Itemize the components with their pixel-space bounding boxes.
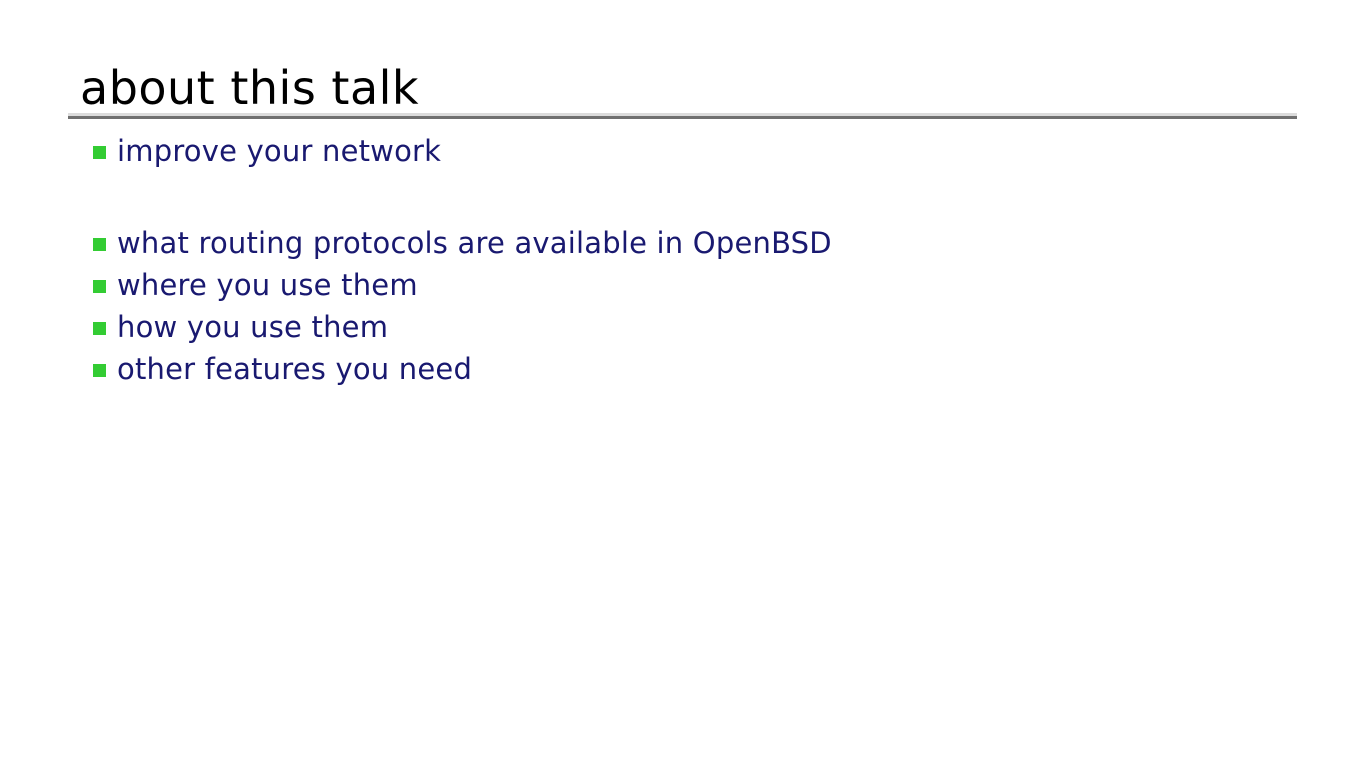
bullet-label: other features you need xyxy=(117,352,472,386)
bullet-label: what routing protocols are available in … xyxy=(117,226,832,260)
bullet-label: how you use them xyxy=(117,310,388,344)
bullet-label: where you use them xyxy=(117,268,418,302)
square-bullet-icon xyxy=(93,146,106,159)
square-bullet-icon xyxy=(93,280,106,293)
slide: about this talk improve your network wha… xyxy=(0,0,1366,768)
title-separator-rule xyxy=(68,113,1297,119)
square-bullet-icon xyxy=(93,238,106,251)
list-spacer xyxy=(93,172,1333,222)
square-bullet-icon xyxy=(93,364,106,377)
list-item: where you use them xyxy=(93,264,1333,306)
rule-band-dark xyxy=(68,116,1297,119)
square-bullet-icon xyxy=(93,322,106,335)
list-item: what routing protocols are available in … xyxy=(93,222,1333,264)
bullet-label: improve your network xyxy=(117,134,441,168)
list-item: how you use them xyxy=(93,306,1333,348)
page-title: about this talk xyxy=(80,62,419,114)
bullet-list: improve your network what routing protoc… xyxy=(93,130,1333,390)
list-item: improve your network xyxy=(93,130,1333,172)
list-item: other features you need xyxy=(93,348,1333,390)
